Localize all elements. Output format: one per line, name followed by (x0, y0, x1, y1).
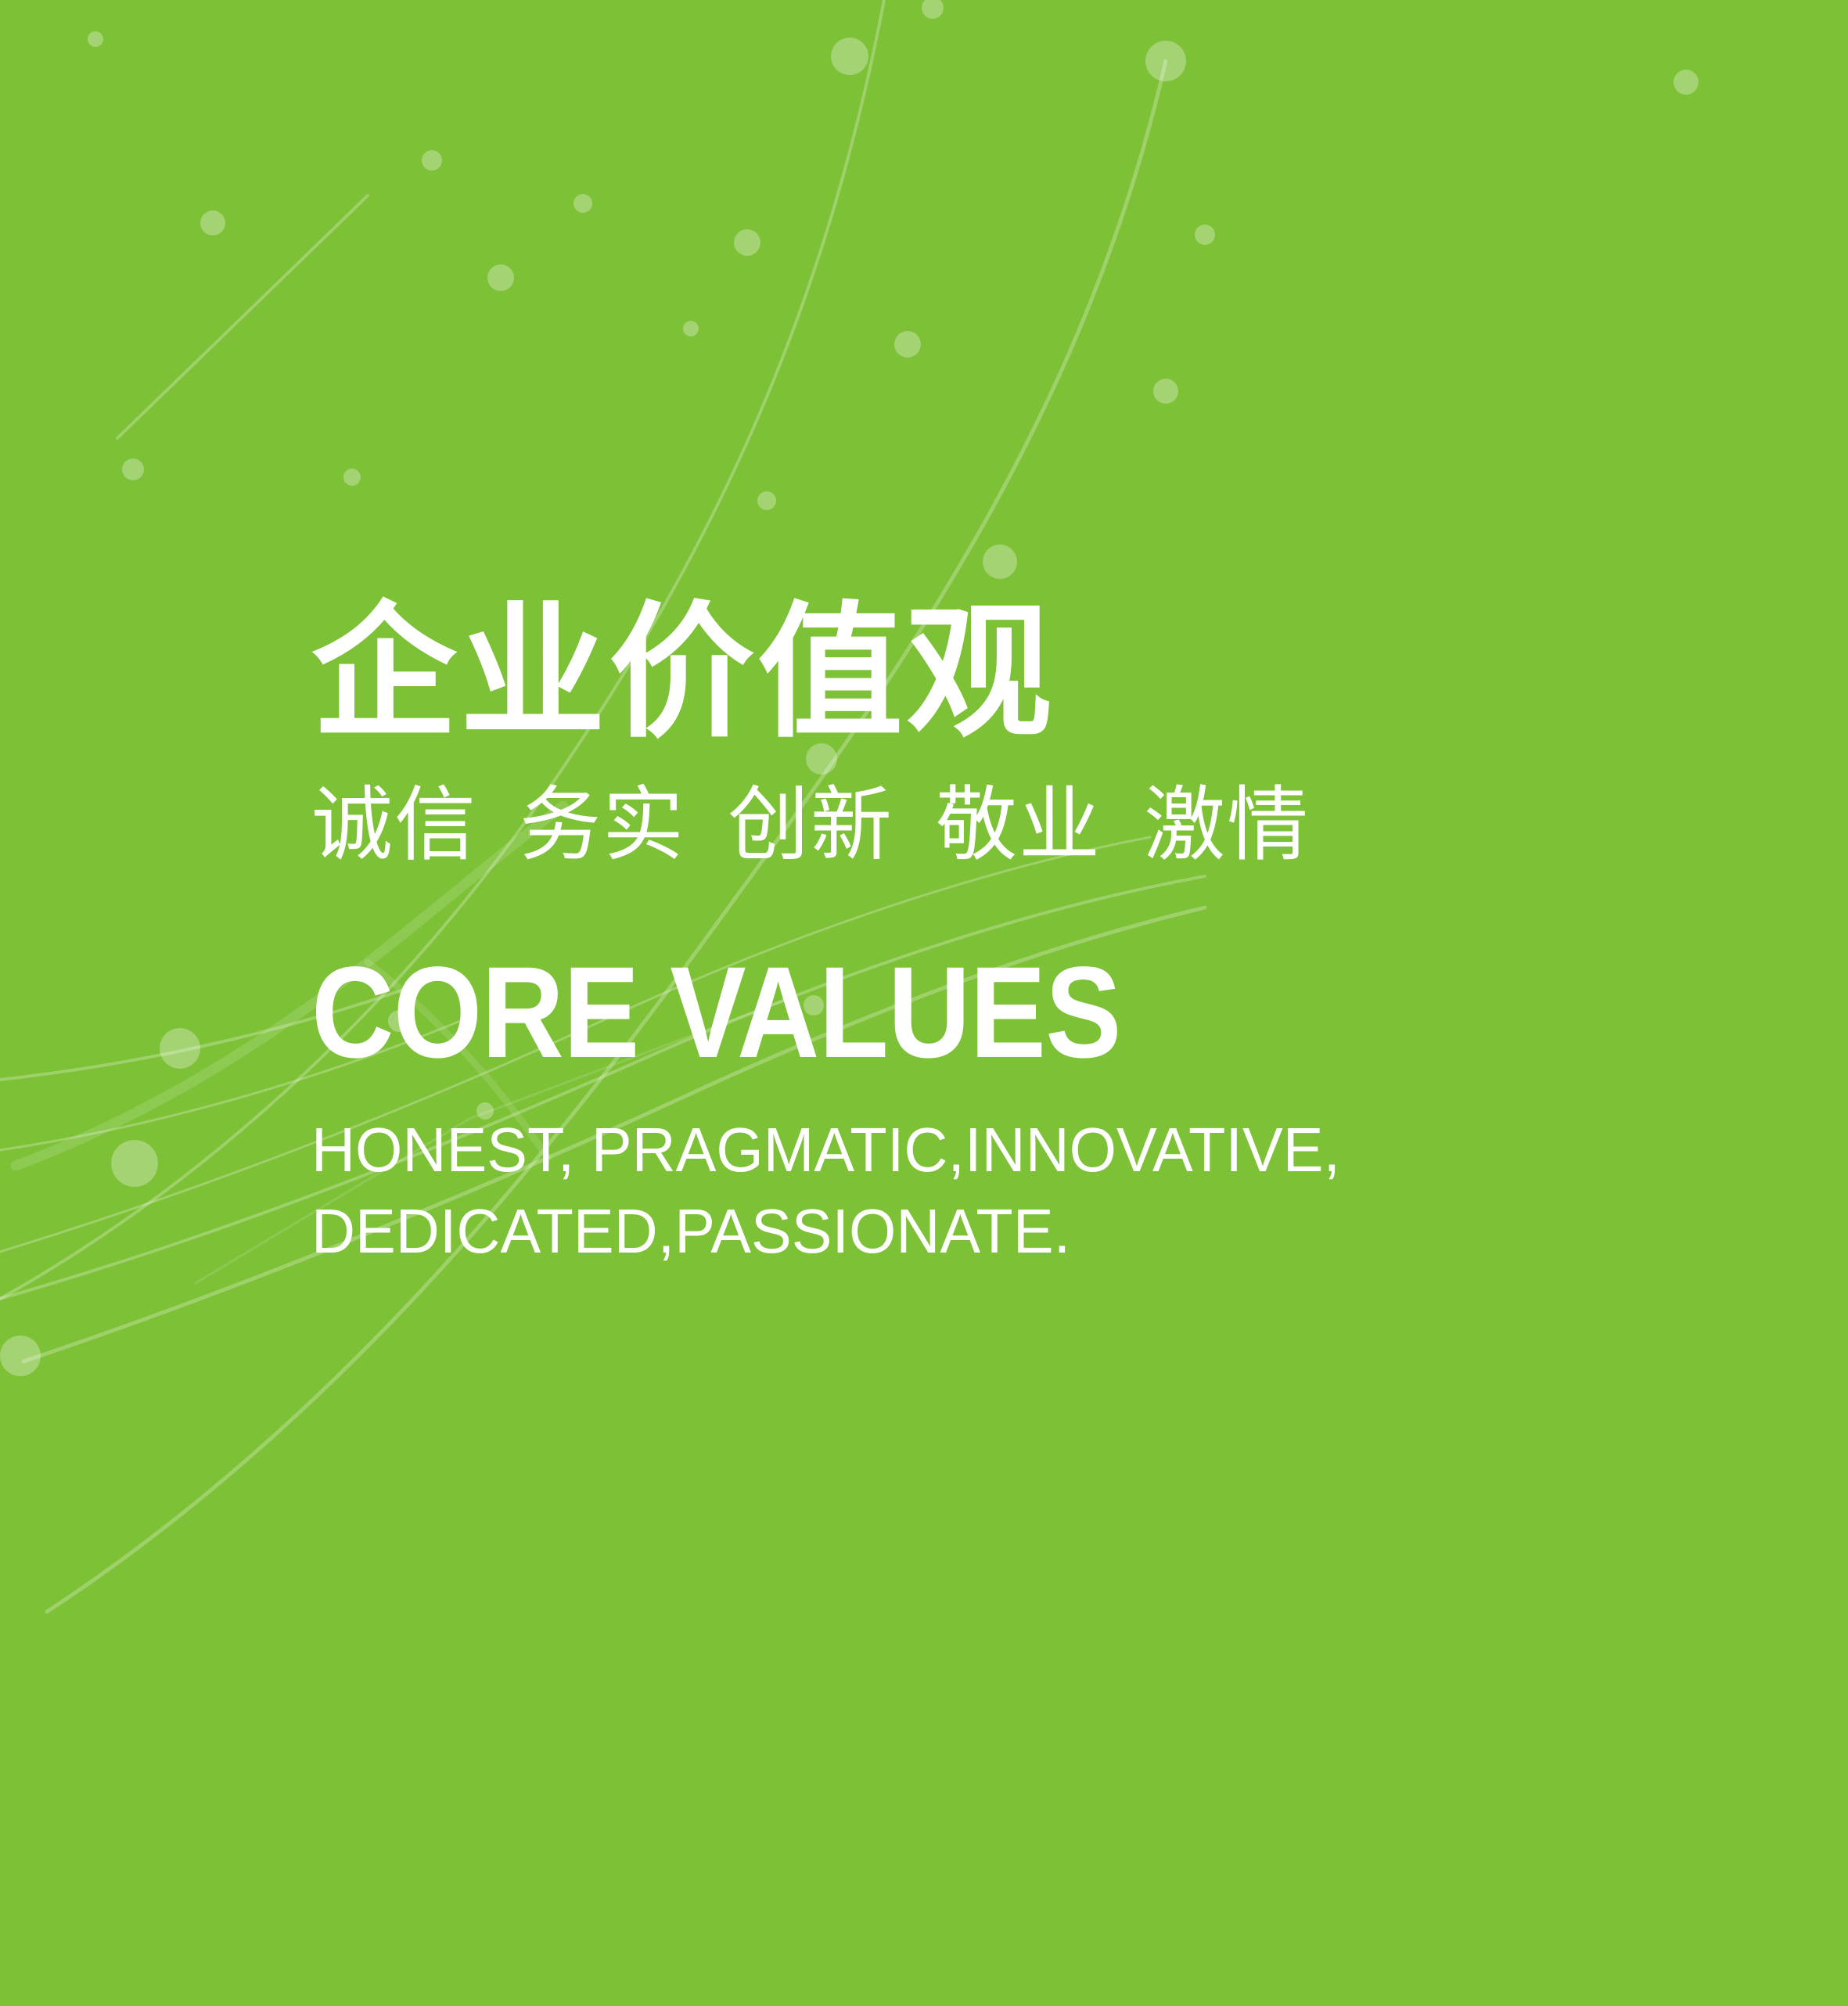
english-title: CORE VALUES (311, 948, 1551, 1078)
node-dot (757, 491, 776, 510)
node-dot (573, 194, 592, 213)
node-dot (111, 1140, 158, 1187)
value-item-passionate: 激情 (1144, 777, 1310, 872)
node-dot (122, 458, 144, 480)
node-dot (922, 0, 944, 19)
node-dot (0, 1336, 41, 1376)
node-dot (894, 331, 921, 358)
core-values-poster: 企业价值观 诚信务实创新敬业激情 CORE VALUES HONEST, PRA… (0, 0, 1848, 2006)
node-dot (983, 545, 1017, 579)
value-item-pragmatic: 务实 (520, 777, 685, 872)
value-item-dedicated: 敬业 (936, 777, 1102, 872)
english-values-line-2: DEDICATED,PASSIONATE. (311, 1191, 1677, 1272)
value-item-honest: 诚信 (311, 777, 477, 872)
text-block: 企业价值观 诚信务实创新敬业激情 CORE VALUES HONEST, PRA… (311, 595, 1720, 1272)
node-dot (343, 469, 361, 486)
node-dot (1195, 225, 1215, 245)
node-dot (1153, 379, 1178, 404)
node-dot (200, 210, 225, 235)
node-dot (1674, 70, 1699, 95)
node-dot (683, 321, 699, 336)
node-dot (160, 1028, 200, 1069)
node-dot (1145, 41, 1186, 81)
value-item-innovative: 创新 (728, 777, 893, 872)
node-dot (88, 31, 103, 47)
chinese-values-row: 诚信务实创新敬业激情 (311, 777, 1720, 873)
node-dot (487, 264, 514, 291)
english-values-text: HONEST, PRAGMATIC,INNOVATIVE, DEDICATED,… (311, 1109, 1677, 1272)
node-dot (422, 150, 442, 171)
english-values-line-1: HONEST, PRAGMATIC,INNOVATIVE, (311, 1109, 1677, 1191)
node-dot (831, 38, 868, 75)
chinese-title: 企业价值观 (311, 595, 1720, 750)
node-dot (734, 229, 760, 256)
